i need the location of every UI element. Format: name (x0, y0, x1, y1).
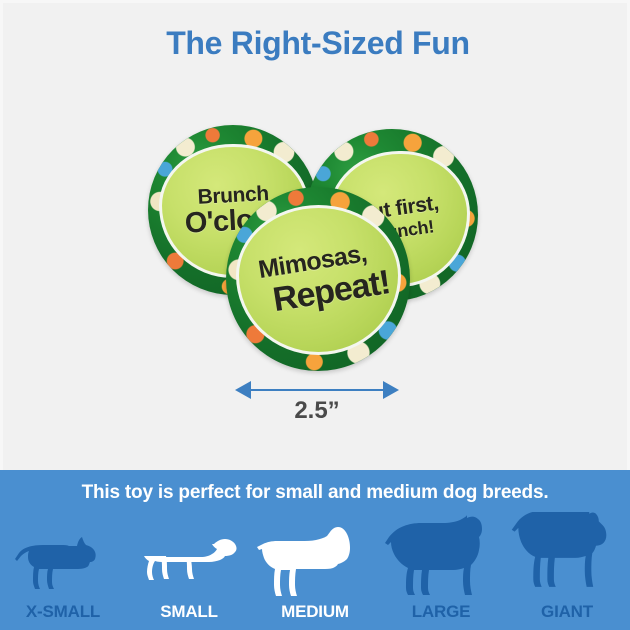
size-item-large[interactable]: LARGE (378, 512, 504, 630)
banner-headline: This toy is perfect for small and medium… (0, 482, 630, 504)
product-image-balls: Brunch O'clock But first, Brunch! Mimosa… (148, 115, 488, 375)
ball-face: Mimosas, Repeat! (236, 205, 401, 355)
dimension-label: 2.5” (235, 397, 399, 425)
tennis-ball-front: Mimosas, Repeat! (226, 187, 410, 371)
size-item-x-small[interactable]: X-SMALL (0, 512, 126, 630)
product-panel: The Right-Sized Fun Brunch O'clock But f… (0, 0, 630, 470)
size-item-medium[interactable]: MEDIUM (252, 512, 378, 630)
dimension-indicator: 2.5” (235, 379, 399, 423)
dog-retriever-icon (381, 514, 501, 600)
dimension-line (249, 389, 385, 391)
size-guide-banner: This toy is perfect for small and medium… (0, 470, 630, 630)
dog-great-dane-icon (507, 512, 627, 600)
infographic-page: The Right-Sized Fun Brunch O'clock But f… (0, 0, 630, 630)
size-label: SMALL (160, 602, 218, 622)
size-item-small[interactable]: SMALL (126, 512, 252, 630)
page-title: The Right-Sized Fun (3, 25, 630, 62)
size-label: X-SMALL (26, 602, 100, 622)
dog-dachshund-icon (134, 534, 244, 600)
size-label: MEDIUM (281, 602, 349, 622)
size-label: LARGE (412, 602, 471, 622)
size-guide-list: X-SMALL SMALL MEDIUM LA (0, 512, 630, 630)
size-label: GIANT (541, 602, 593, 622)
dog-bull-terrier-icon (257, 526, 373, 600)
ball-face-text: Mimosas, Repeat! (229, 196, 409, 363)
size-item-giant[interactable]: GIANT (504, 512, 630, 630)
dog-chihuahua-icon (15, 532, 111, 600)
